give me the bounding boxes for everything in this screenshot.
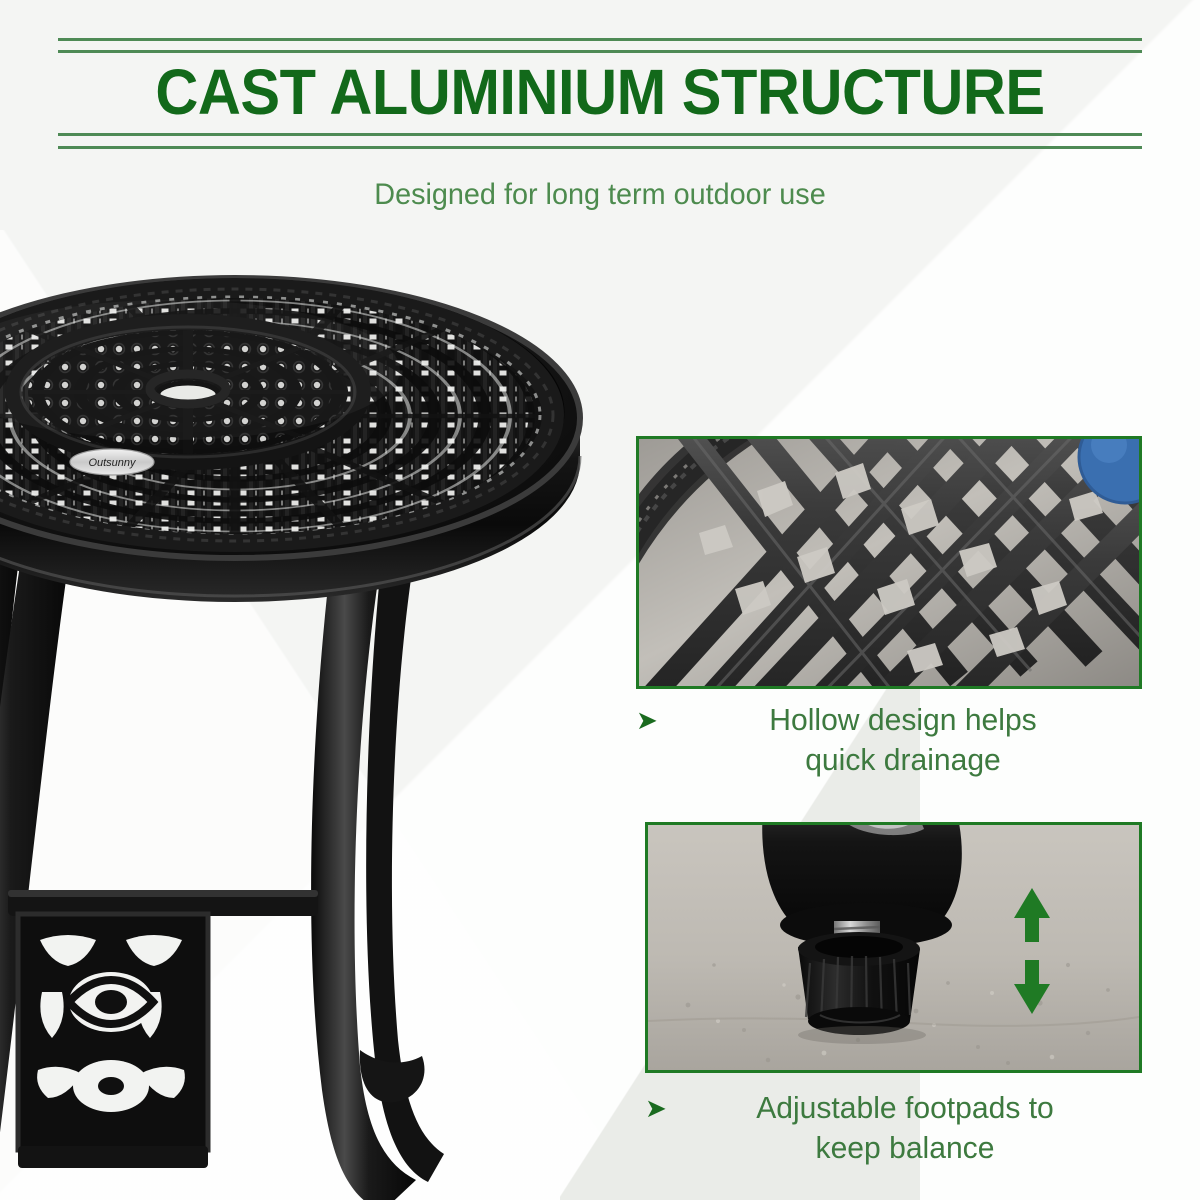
arrow-right-icon: ➤	[636, 700, 658, 740]
brand-badge: Outsunny	[70, 449, 154, 475]
header: CAST ALUMINIUM STRUCTURE Designed for lo…	[0, 0, 1200, 240]
infographic-canvas: CAST ALUMINIUM STRUCTURE Designed for lo…	[0, 0, 1200, 1200]
hero-product-image: Outsunny	[0, 250, 630, 1200]
table-top	[0, 270, 590, 602]
footpad-closeup-image	[648, 825, 1139, 1070]
caption-footpad-text: Adjustable footpads to keep balance	[701, 1088, 1108, 1168]
header-rule-bottom-inner	[58, 133, 1142, 136]
caption-drainage-text: Hollow design helps quick drainage	[694, 700, 1111, 780]
header-rule-top-outer	[58, 38, 1142, 41]
feature-panel-drainage	[636, 436, 1142, 689]
arrow-right-icon: ➤	[645, 1088, 667, 1128]
page-subtitle: Designed for long term outdoor use	[24, 176, 1176, 214]
caption-footpad: ➤ Adjustable footpads to keep balance	[645, 1088, 1142, 1168]
caption-drainage: ➤ Hollow design helps quick drainage	[636, 700, 1142, 780]
table-center-ornament	[8, 890, 318, 1168]
header-rule-top-inner	[58, 50, 1142, 53]
lattice-closeup-image	[639, 439, 1139, 686]
page-title: CAST ALUMINIUM STRUCTURE	[42, 56, 1158, 128]
feature-panel-footpad	[645, 822, 1142, 1073]
table-illustration: Outsunny	[0, 250, 630, 1200]
svg-text:Outsunny: Outsunny	[88, 457, 137, 469]
header-rule-bottom-outer	[58, 146, 1142, 149]
